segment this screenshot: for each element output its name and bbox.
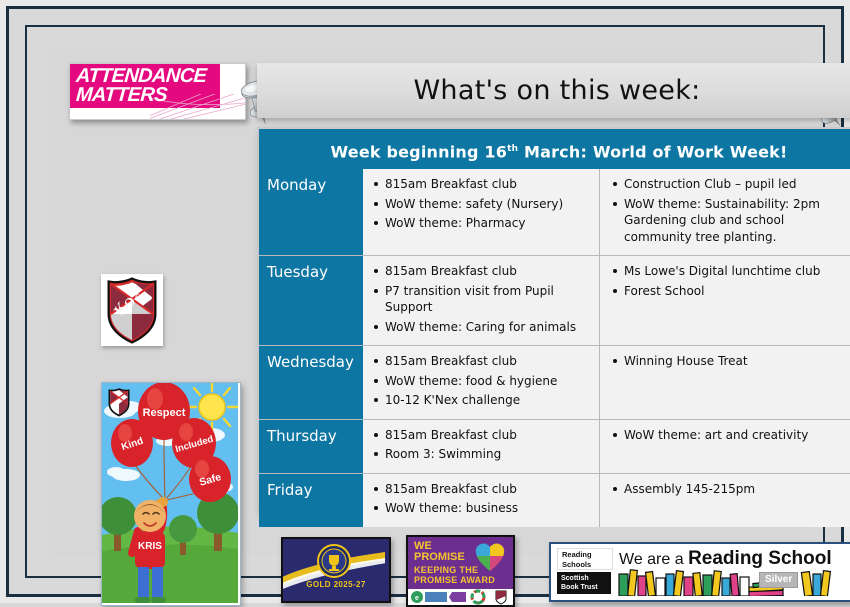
schedule-item: WoW theme: Pharmacy xyxy=(385,215,593,232)
school-sport-award-badge: GOLD 2025-27 xyxy=(281,537,391,603)
schedule-header-suffix: March: World of Work Week! xyxy=(518,142,787,161)
schedule-cell-afternoon: Assembly 145-215pm xyxy=(600,474,850,527)
table-row: Thursday815am Breakfast clubRoom 3: Swim… xyxy=(259,419,850,473)
schedule-cell-morning: 815am Breakfast clubP7 transition visit … xyxy=(363,256,600,345)
schedule-item-list: 815am Breakfast clubWoW theme: safety (N… xyxy=(371,176,593,232)
schedule-cell-afternoon: Winning House Treat xyxy=(600,346,850,419)
schedule-item: Ms Lowe's Digital lunchtime club xyxy=(624,263,850,280)
attendance-text: ATTENDANCE MATTERS xyxy=(76,67,206,105)
schedule-item: WoW theme: business xyxy=(385,500,593,517)
attendance-matters-logo: ATTENDANCE MATTERS xyxy=(69,63,246,120)
noticeboard: ATTENDANCE MATTERS xyxy=(0,0,850,603)
reading-school-level-badge: Silver xyxy=(759,572,798,588)
schedule-item-list: WoW theme: art and creativity xyxy=(610,427,850,444)
promise-line-2: PROMISE xyxy=(414,552,465,563)
page-title-bar: What's on this week: xyxy=(257,63,850,118)
schedule-cell-afternoon: Construction Club – pupil ledWoW theme: … xyxy=(600,169,850,255)
promise-title: WE PROMISE xyxy=(414,541,465,563)
schedule-item: 815am Breakfast club xyxy=(385,263,593,280)
table-row: Friday815am Breakfast clubWoW theme: bus… xyxy=(259,473,850,527)
schedule-day-label: Thursday xyxy=(259,420,363,473)
schedule-item-list: Assembly 145-215pm xyxy=(610,481,850,498)
schedule-item: 815am Breakfast club xyxy=(385,481,593,498)
schedule-cell-afternoon: Ms Lowe's Digital lunchtime clubForest S… xyxy=(600,256,850,345)
schedule-item: 10-12 K'Nex challenge xyxy=(385,392,593,409)
schedule-cell-morning: 815am Breakfast clubWoW theme: food & hy… xyxy=(363,346,600,419)
schedule-item-list: 815am Breakfast clubRoom 3: Swimming xyxy=(371,427,593,463)
schedule-cell-afternoon: WoW theme: art and creativity xyxy=(600,420,850,473)
schedule-item-list: 815am Breakfast clubWoW theme: business xyxy=(371,481,593,517)
schedule-item: Assembly 145-215pm xyxy=(624,481,850,498)
schedule-item: WoW theme: Sustainability: 2pm Gardening… xyxy=(624,196,850,246)
reading-schools-line-1: Reading xyxy=(558,549,612,559)
schedule-item: Winning House Treat xyxy=(624,353,850,370)
schedule-item: Construction Club – pupil led xyxy=(624,176,850,193)
reading-schools-line-2: Schools xyxy=(558,559,612,569)
schedule-item: P7 transition visit from Pupil Support xyxy=(385,283,593,316)
schedule-item-list: 815am Breakfast clubWoW theme: food & hy… xyxy=(371,353,593,409)
schedule-header-prefix: Week beginning 16 xyxy=(330,142,507,161)
books-illustration xyxy=(617,568,847,596)
weekly-schedule-table: Week beginning 16th March: World of Work… xyxy=(257,127,850,511)
reading-school-headline: We are a Reading School xyxy=(619,548,832,570)
table-row: Tuesday815am Breakfast clubP7 transition… xyxy=(259,255,850,345)
table-row: Monday815am Breakfast clubWoW theme: saf… xyxy=(259,169,850,255)
board-frame-outer: ATTENDANCE MATTERS xyxy=(6,6,844,597)
scottish-book-trust-logo: Scottish Book Trust xyxy=(557,572,611,594)
reading-headline-lead: We are a xyxy=(619,551,688,568)
school-crest: K O S xyxy=(101,274,163,346)
schedule-item: WoW theme: food & hygiene xyxy=(385,373,593,390)
schedule-item: WoW theme: Caring for animals xyxy=(385,319,593,336)
schedule-item: Forest School xyxy=(624,283,850,300)
schedule-header: Week beginning 16th March: World of Work… xyxy=(259,129,850,169)
reading-schools-logo: Reading Schools xyxy=(557,548,613,570)
schedule-cell-morning: 815am Breakfast clubWoW theme: business xyxy=(363,474,600,527)
schedule-item: Room 3: Swimming xyxy=(385,446,593,463)
board-frame-inner: ATTENDANCE MATTERS xyxy=(25,25,825,578)
schedule-item-list: Construction Club – pupil ledWoW theme: … xyxy=(610,176,850,245)
svg-text:Respect: Respect xyxy=(143,407,186,419)
schedule-item: 815am Breakfast club xyxy=(385,427,593,444)
schedule-day-label: Wednesday xyxy=(259,346,363,419)
schedule-item: WoW theme: safety (Nursery) xyxy=(385,196,593,213)
schedule-rows: Monday815am Breakfast clubWoW theme: saf… xyxy=(259,169,850,527)
sbt-line-1: Scottish xyxy=(561,575,611,584)
schedule-day-label: Tuesday xyxy=(259,256,363,345)
schedule-day-label: Friday xyxy=(259,474,363,527)
keeping-the-promise-award-badge: WE PROMISE KEEPING THE PROMISE AWARD xyxy=(406,535,515,607)
schedule-item: 815am Breakfast club xyxy=(385,353,593,370)
svg-text:KRIS: KRIS xyxy=(138,541,162,552)
sport-award-caption: GOLD 2025-27 xyxy=(283,580,389,589)
schedule-cell-morning: 815am Breakfast clubRoom 3: Swimming xyxy=(363,420,600,473)
reading-school-banner: Reading Schools Scottish Book Trust We a… xyxy=(549,542,850,602)
page-title: What's on this week: xyxy=(257,63,850,118)
attendance-line-2: MATTERS xyxy=(75,86,207,105)
schedule-item-list: Ms Lowe's Digital lunchtime clubForest S… xyxy=(610,263,850,299)
svg-text:e: e xyxy=(415,595,419,602)
promise-sub-2: PROMISE AWARD xyxy=(414,575,495,585)
schedule-item-list: 815am Breakfast clubP7 transition visit … xyxy=(371,263,593,335)
sbt-line-2: Book Trust xyxy=(561,584,611,593)
schedule-item: WoW theme: art and creativity xyxy=(624,427,850,444)
schedule-header-ordinal: th xyxy=(507,144,518,154)
schedule-cell-morning: 815am Breakfast clubWoW theme: safety (N… xyxy=(363,169,600,255)
schedule-item-list: Winning House Treat xyxy=(610,353,850,370)
reading-headline-bold: Reading School xyxy=(688,548,832,569)
kris-values-poster: Kind Respect Included Safe xyxy=(101,382,241,606)
board-canvas: ATTENDANCE MATTERS xyxy=(49,49,801,554)
schedule-day-label: Monday xyxy=(259,169,363,255)
table-row: Wednesday815am Breakfast clubWoW theme: … xyxy=(259,345,850,419)
schedule-item: 815am Breakfast club xyxy=(385,176,593,193)
heart-icon xyxy=(471,540,509,572)
